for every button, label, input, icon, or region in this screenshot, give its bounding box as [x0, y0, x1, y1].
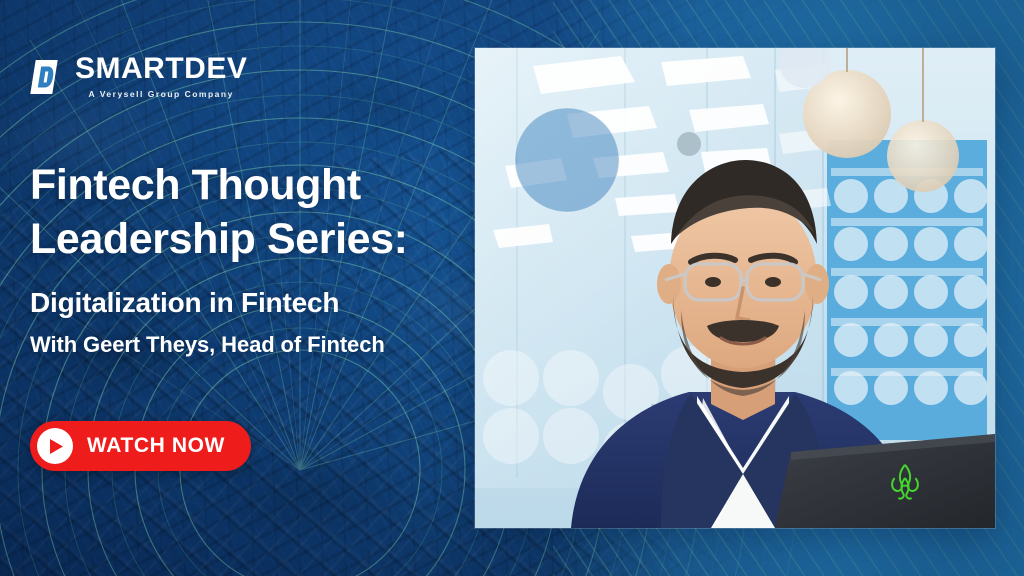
brand-logo-text: SMARTDEV A Verysell Group Company	[75, 54, 247, 99]
headline-line-2: Leadership Series:	[30, 212, 470, 266]
promo-banner: SMARTDEV A Verysell Group Company Fintec…	[0, 0, 1024, 576]
speaker-photo	[475, 48, 995, 528]
speaker-photo-illustration	[475, 48, 995, 528]
watch-now-label: WATCH NOW	[87, 434, 225, 458]
brand-tagline: A Verysell Group Company	[75, 89, 247, 99]
play-button-circle[interactable]	[37, 428, 73, 464]
brand-name: SMARTDEV	[75, 54, 247, 84]
watch-now-button[interactable]: WATCH NOW	[30, 421, 251, 471]
play-triangle-icon	[49, 438, 64, 455]
hero-presenter: With Geert Theys, Head of Fintech	[30, 331, 470, 359]
headline-line-1: Fintech Thought	[30, 158, 470, 212]
hero-copy: Fintech Thought Leadership Series: Digit…	[30, 158, 470, 358]
hero-subtitle: Digitalization in Fintech	[30, 286, 470, 320]
brand-logo[interactable]: SMARTDEV A Verysell Group Company	[30, 54, 247, 99]
smartdev-d-mark-icon	[30, 58, 64, 96]
